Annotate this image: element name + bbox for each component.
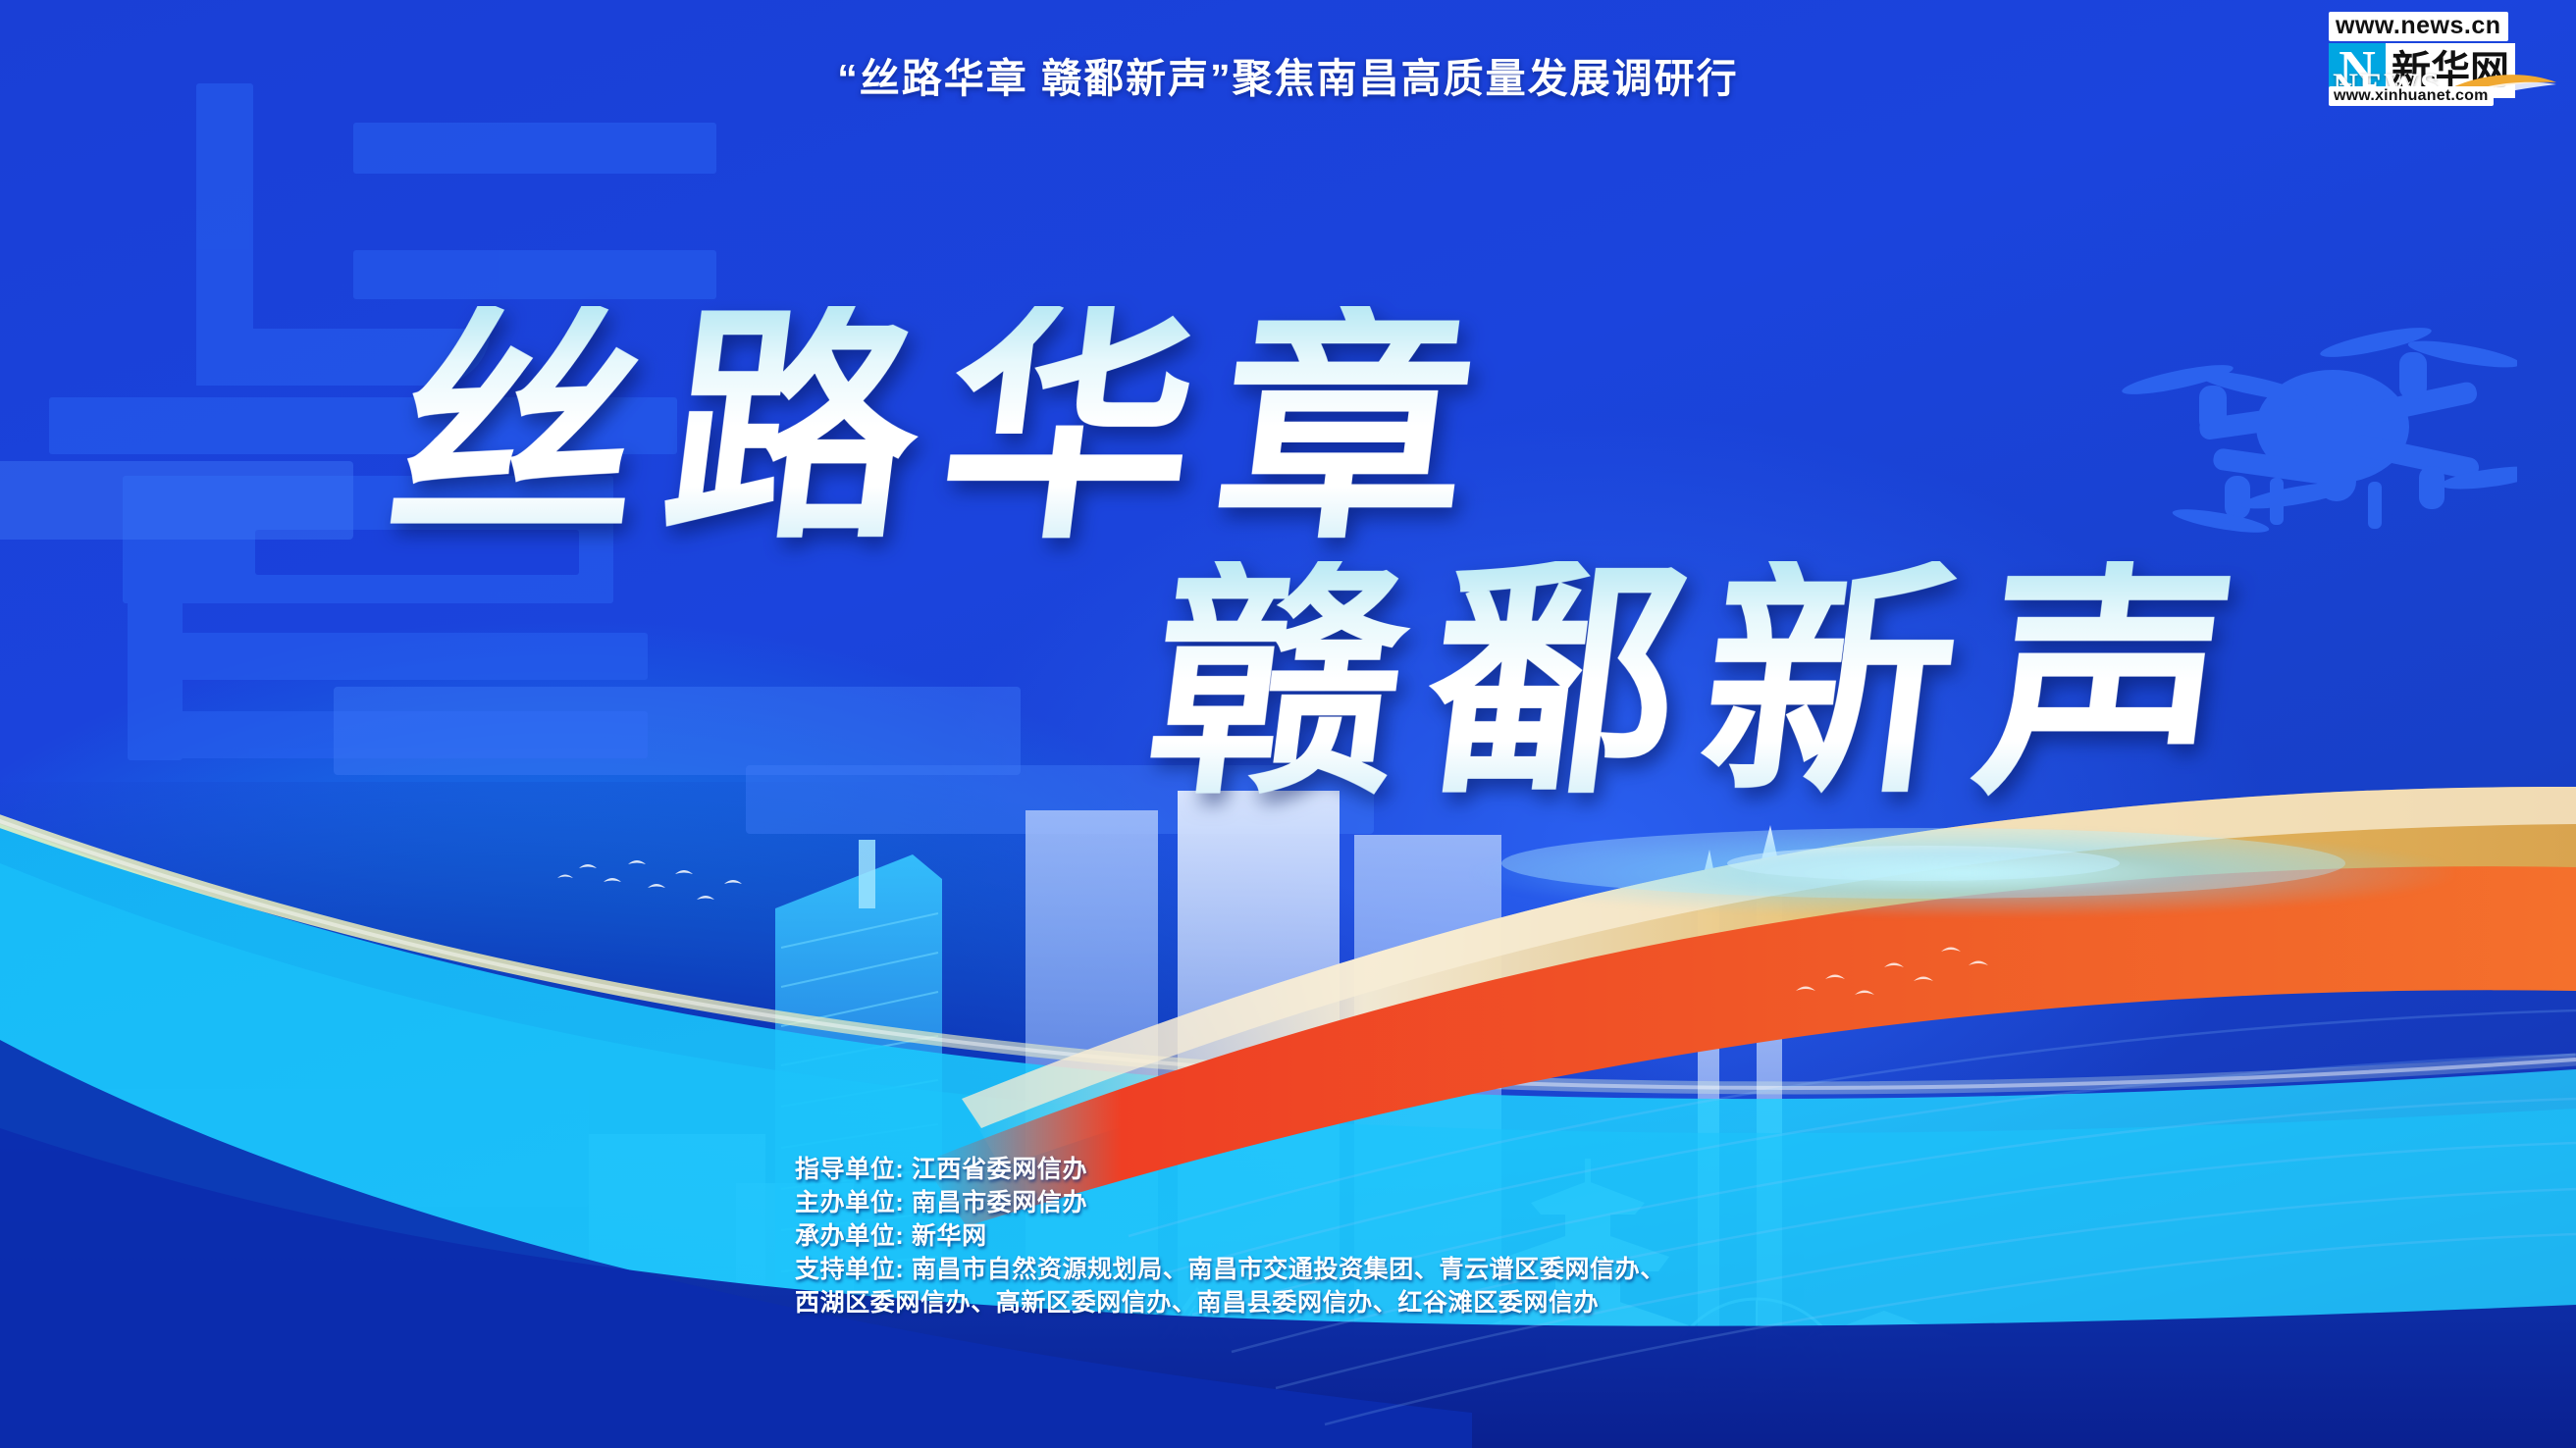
logo-url-bottom: www.xinhuanet.com bbox=[2329, 86, 2494, 106]
credit-line: 支持单位: 南昌市自然资源规划局、南昌市交通投资集团、青云谱区委网信办、 bbox=[795, 1253, 1665, 1286]
birds-icon bbox=[550, 849, 765, 947]
credit-line: 指导单位: 江西省委网信办 bbox=[795, 1153, 1665, 1186]
credit-line: 主办单位: 南昌市委网信办 bbox=[795, 1186, 1665, 1219]
main-title-line-2: 赣鄱新声 bbox=[1137, 561, 2271, 811]
poster-canvas: “丝路华章 赣鄱新声”聚焦南昌高质量发展调研行 www.news.cn N 新华… bbox=[0, 0, 2576, 1448]
credit-line: 承办单位: 新华网 bbox=[795, 1219, 1665, 1253]
drone-icon bbox=[2105, 309, 2517, 535]
xinhua-logo[interactable]: www.news.cn N 新华网 NEWS www.xinhuanet.com bbox=[2313, 8, 2558, 102]
birds-icon bbox=[1786, 922, 2012, 1030]
logo-url-top: www.news.cn bbox=[2329, 12, 2508, 41]
main-title-line-1: 丝路华章 bbox=[377, 306, 1510, 556]
credits-block: 指导单位: 江西省委网信办 主办单位: 南昌市委网信办 承办单位: 新华网 支持… bbox=[795, 1153, 1665, 1319]
header-banner-title: “丝路华章 赣鄱新声”聚焦南昌高质量发展调研行 bbox=[0, 45, 2576, 104]
credit-line: 西湖区委网信办、高新区委网信办、南昌县委网信办、红谷滩区委网信办 bbox=[795, 1286, 1665, 1319]
horizon-glow bbox=[1472, 829, 2453, 917]
